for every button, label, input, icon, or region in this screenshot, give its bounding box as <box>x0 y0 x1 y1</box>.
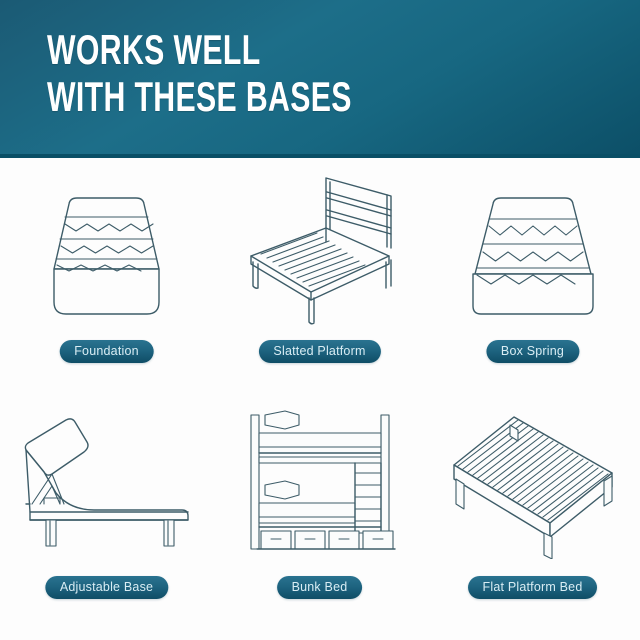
base-card-bunk-bed: Bunk Bed <box>213 386 426 626</box>
base-label-flat-platform-bed[interactable]: Flat Platform Bed <box>468 576 598 599</box>
base-card-slatted-platform: Slatted Platform <box>213 158 426 398</box>
base-card-flat-platform-bed: Flat Platform Bed <box>426 386 639 626</box>
base-label-bunk-bed[interactable]: Bunk Bed <box>277 576 363 599</box>
infographic-page: WORKS WELL WITH THESE BASES Foundation <box>0 0 640 640</box>
page-title-line2: WITH THESE BASES <box>47 73 352 120</box>
flat-platform-bed-icon <box>426 400 639 565</box>
base-card-box-spring: Box Spring <box>426 158 639 398</box>
slatted-platform-bed-icon <box>213 166 426 331</box>
bases-grid: Foundation <box>0 158 640 640</box>
header-banner: WORKS WELL WITH THESE BASES <box>0 0 640 158</box>
base-label-adjustable-base[interactable]: Adjustable Base <box>45 576 168 599</box>
base-card-adjustable-base: Adjustable Base <box>0 386 213 626</box>
base-card-foundation: Foundation <box>0 158 213 398</box>
page-title: WORKS WELL WITH THESE BASES <box>47 26 352 120</box>
box-spring-icon <box>426 166 639 331</box>
base-label-foundation[interactable]: Foundation <box>59 340 154 363</box>
base-label-slatted-platform[interactable]: Slatted Platform <box>258 340 380 363</box>
bunk-bed-icon <box>213 400 426 565</box>
foundation-mattress-icon <box>0 166 213 331</box>
adjustable-base-icon <box>0 400 213 565</box>
page-title-line1: WORKS WELL <box>47 26 261 73</box>
base-label-box-spring[interactable]: Box Spring <box>486 340 579 363</box>
